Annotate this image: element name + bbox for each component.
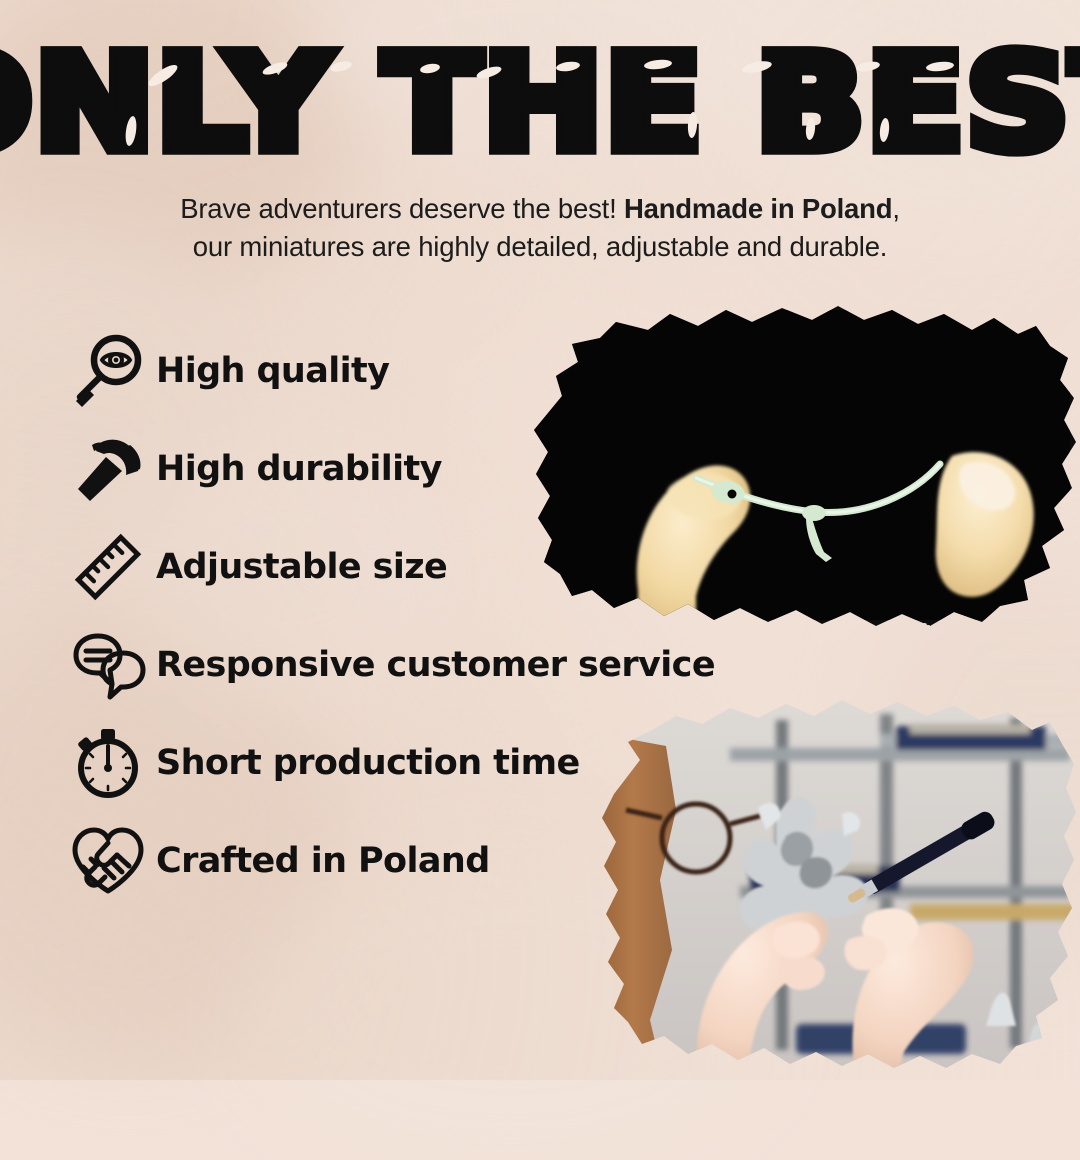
feature-item-crafted-in-poland: Crafted in Poland	[60, 812, 820, 910]
subtitle-line-2: our miniatures are highly detailed, adju…	[0, 228, 1080, 266]
feature-item-customer-service: Responsive customer service	[60, 616, 820, 714]
subtitle-bold: Handmade in Poland	[624, 193, 892, 224]
feature-item-adjustable-size: Adjustable size	[60, 518, 820, 616]
feature-label: Short production time	[156, 743, 580, 783]
feature-label: High durability	[156, 449, 442, 489]
subtitle-suffix: ,	[892, 193, 899, 224]
stopwatch-icon	[60, 724, 156, 802]
headline-text: ONLY THE BEST	[0, 40, 1080, 167]
feature-label: Crafted in Poland	[156, 841, 490, 881]
magnifier-eye-icon	[60, 333, 156, 409]
heart-handshake-icon	[60, 823, 156, 899]
feature-item-high-quality: High quality	[60, 322, 820, 420]
feature-label: High quality	[156, 351, 389, 391]
speech-bubbles-icon	[60, 627, 156, 703]
page-title: ONLY THE BEST	[0, 40, 1080, 153]
subtitle-prefix: Brave adventurers deserve the best!	[180, 193, 624, 224]
ruler-icon	[60, 529, 156, 605]
feature-list: High quality High durability	[60, 322, 820, 910]
feature-item-production-time: Short production time	[60, 714, 820, 812]
hammer-icon	[60, 431, 156, 507]
subtitle: Brave adventurers deserve the best! Hand…	[0, 190, 1080, 266]
subtitle-line-1: Brave adventurers deserve the best! Hand…	[0, 190, 1080, 228]
feature-label: Responsive customer service	[156, 645, 715, 685]
feature-item-high-durability: High durability	[60, 420, 820, 518]
feature-label: Adjustable size	[156, 547, 447, 587]
